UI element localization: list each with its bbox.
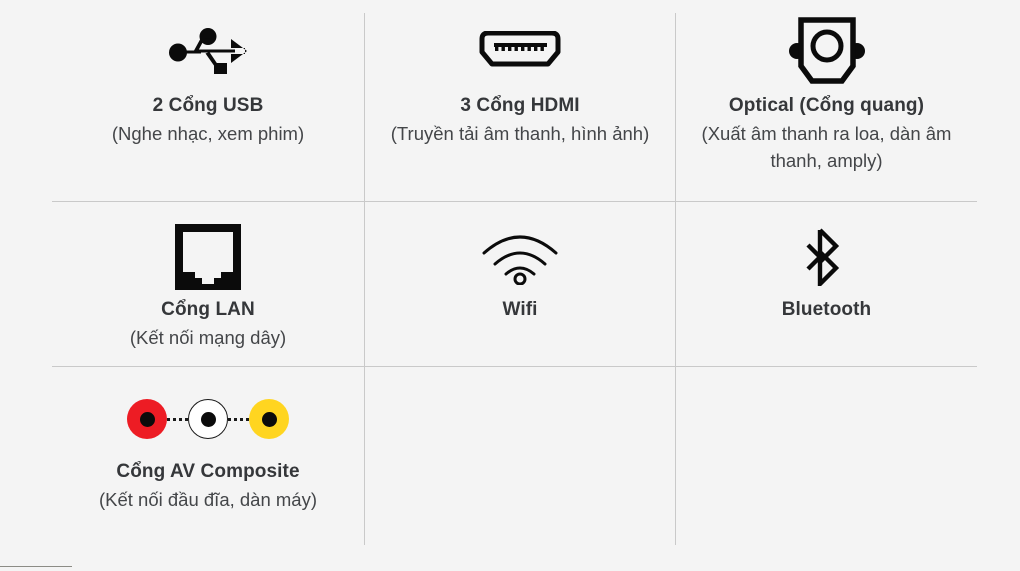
av-composite-icon xyxy=(127,388,289,450)
feature-subtitle: (Kết nối mạng dây) xyxy=(130,325,286,352)
feature-cell-empty-2 xyxy=(676,367,977,542)
feature-title: 3 Cổng HDMI xyxy=(460,94,579,118)
optical-icon xyxy=(787,14,867,88)
feature-subtitle: (Nghe nhạc, xem phim) xyxy=(112,121,304,148)
feature-subtitle: (Xuất âm thanh ra loa, dàn âm thanh, amp… xyxy=(682,121,972,175)
audio-right-plug xyxy=(249,399,289,439)
wifi-icon xyxy=(481,218,559,296)
plug-connector-dots xyxy=(167,418,188,421)
plug-connector-dots xyxy=(228,418,249,421)
plug-pin xyxy=(201,412,216,427)
feature-cell-bluetooth: Bluetooth xyxy=(676,202,977,366)
feature-subtitle: (Kết nối đầu đĩa, dàn máy) xyxy=(99,487,317,514)
feature-title: Wifi xyxy=(502,298,537,322)
audio-left-plug xyxy=(188,399,228,439)
feature-cell-empty-1 xyxy=(365,367,675,542)
feature-title: Cổng LAN xyxy=(161,298,255,322)
usb-icon xyxy=(169,14,247,88)
lan-port-icon xyxy=(175,218,241,296)
video-plug xyxy=(127,399,167,439)
feature-title: Optical (Cổng quang) xyxy=(729,94,924,118)
feature-cell-wifi: Wifi xyxy=(365,202,675,366)
feature-title: 2 Cổng USB xyxy=(153,94,264,118)
feature-cell-optical: Optical (Cổng quang) (Xuất âm thanh ra l… xyxy=(676,0,977,201)
plug-pin xyxy=(140,412,155,427)
connectivity-feature-grid: 2 Cổng USB (Nghe nhạc, xem phim) xyxy=(0,0,1020,571)
feature-cell-av-composite: Cổng AV Composite (Kết nối đầu đĩa, dàn … xyxy=(52,367,364,542)
feature-title: Bluetooth xyxy=(782,298,872,322)
feature-cell-usb: 2 Cổng USB (Nghe nhạc, xem phim) xyxy=(52,0,364,201)
bluetooth-icon xyxy=(806,218,848,296)
feature-title: Cổng AV Composite xyxy=(116,460,299,484)
hdmi-icon xyxy=(474,14,566,88)
feature-cell-hdmi: 3 Cổng HDMI (Truyền tải âm thanh, hình ả… xyxy=(365,0,675,201)
bottom-edge-mark xyxy=(0,566,72,567)
feature-cell-lan: Cổng LAN (Kết nối mạng dây) xyxy=(52,202,364,366)
feature-subtitle: (Truyền tải âm thanh, hình ảnh) xyxy=(391,121,649,148)
plug-pin xyxy=(262,412,277,427)
